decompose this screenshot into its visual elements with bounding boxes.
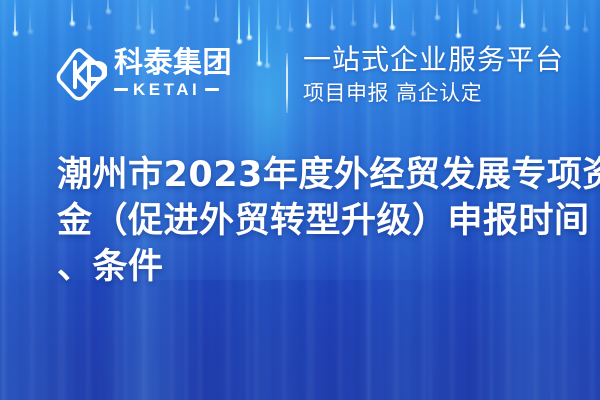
brand-wordmark: 科泰集团 KETAI [114,48,232,100]
light-streak-25-icon [497,8,499,28]
light-streak-21-icon [412,6,414,34]
light-streak-23-icon [457,2,459,36]
light-streak-27-icon [543,4,545,30]
brand-tagline: 一站式企业服务平台 项目申报 高企认定 [303,44,564,106]
brand-logo[interactable]: 科泰集团 KETAI [55,46,232,102]
light-streak-22-icon [436,0,438,18]
tagline-secondary: 项目申报 高企认定 [303,80,564,106]
light-streak-2-icon [29,6,31,32]
banner-header: 科泰集团 KETAI 一站式企业服务平台 项目申报 高企认定 [0,44,600,122]
light-streak-6-icon [137,0,139,28]
light-streak-24-icon [474,0,476,12]
light-streak-15-icon [289,8,291,30]
light-streak-20-icon [391,0,393,28]
title-line-2: 金（促进外贸转型升级）申报时间 [57,198,571,244]
light-streak-16-icon [307,0,309,26]
light-streak-14-icon [277,0,279,28]
tagline-primary: 一站式企业服务平台 [303,44,564,76]
brand-name-cn: 科泰集团 [114,48,232,78]
brand-name-en: KETAI [133,80,200,100]
light-streak-8-icon [186,0,188,8]
light-streak-3-icon [71,0,73,24]
light-streak-28-icon [566,0,568,28]
promo-banner: 科泰集团 KETAI 一站式企业服务平台 项目申报 高企认定 潮州市2023年度… [0,0,600,400]
ketai-diamond-monogram-logo-icon [55,46,107,102]
title-line-3: 、条件 [57,244,571,290]
light-streak-4-icon [88,10,90,28]
banner-title: 潮州市2023年度外经贸发展专项资 金（促进外贸转型升级）申报时间 、条件 [57,152,571,290]
light-streak-11-icon [248,4,250,38]
light-streak-9-icon [215,0,217,20]
light-streak-5-icon [107,0,109,12]
header-vertical-divider [286,53,288,113]
light-streak-29-icon [584,10,586,30]
light-streak-26-icon [521,0,523,26]
light-streak-17-icon [331,4,333,28]
wordmark-dash-right-icon [205,88,219,91]
light-streak-10-icon [238,0,240,42]
wordmark-dash-left-icon [114,88,128,91]
brand-name-en-row: KETAI [114,80,232,100]
light-streak-19-icon [374,0,376,26]
light-streak-7-icon [151,2,153,32]
light-streak-1-icon [14,0,16,34]
light-streak-18-icon [352,0,354,24]
title-line-1: 潮州市2023年度外经贸发展专项资 [57,152,571,198]
